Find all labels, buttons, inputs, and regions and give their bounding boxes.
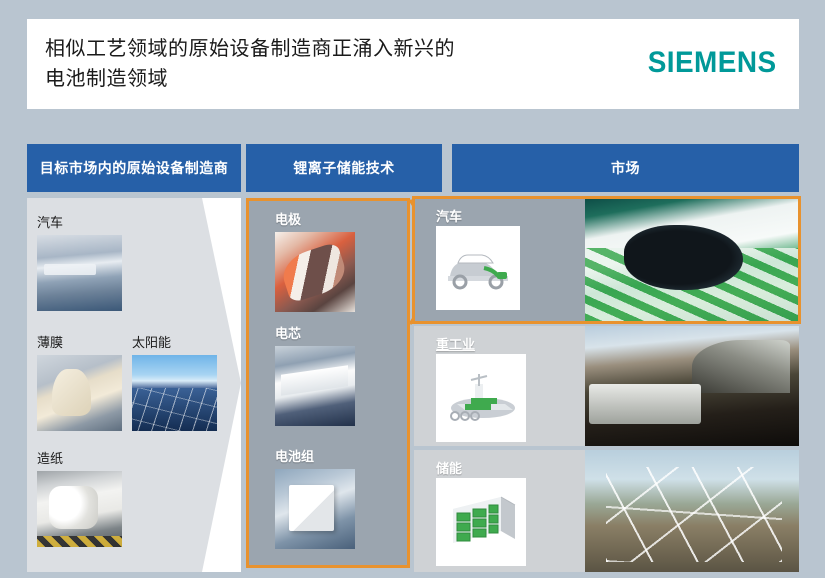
market-pane-automotive: 汽车 [414,198,585,322]
header-label-technology: 锂离子储能技术 [293,158,395,178]
market-item-automotive: 汽车 [414,198,799,322]
header-label-oem: 目标市场内的原始设备制造商 [40,158,229,178]
film-rolls-photo [37,355,122,431]
battery-rack-icon [436,478,526,566]
tech-label-cell: 电芯 [275,323,355,342]
slide-root: 相似工艺领域的原始设备制造商正涌入新兴的 电池制造领域 SIEMENS 目标市场… [0,0,825,578]
wind-turbines-photo [585,450,799,572]
header-bar-technology: 锂离子储能技术 [246,144,442,192]
oem-item-solar: 太阳能 [132,332,217,431]
tech-item-electrode: 电极 [275,209,355,312]
header-label-market: 市场 [611,158,640,178]
battery-cell-photo [275,346,355,426]
tech-label-pack: 电池组 [275,446,355,465]
tech-label-electrode: 电极 [275,209,355,228]
title-card: 相似工艺领域的原始设备制造商正涌入新兴的 电池制造领域 SIEMENS [27,19,799,109]
oem-label-solar: 太阳能 [132,332,217,351]
oem-label-paper: 造纸 [37,448,122,467]
market-pane-energy-storage: 储能 [414,450,585,572]
siemens-logo: SIEMENS [648,46,777,80]
oem-label-film: 薄膜 [37,332,122,351]
oem-label-automotive: 汽车 [37,212,122,231]
page-title: 相似工艺领域的原始设备制造商正涌入新兴的 电池制造领域 [45,34,455,94]
ev-charging-photo [585,198,799,322]
mining-vehicle-icon [436,354,526,442]
solar-panels-photo [132,355,217,431]
electric-car-icon [436,226,520,310]
market-label-heavy-industry: 重工业 [436,334,475,353]
market-label-automotive: 汽车 [436,206,462,225]
market-label-energy-storage: 储能 [436,458,462,477]
oem-column: 汽车 薄膜 太阳能 造纸 [27,198,241,572]
oem-item-automotive: 汽车 [37,212,122,311]
tech-item-cell: 电芯 [275,323,355,426]
oem-item-film: 薄膜 [37,332,122,431]
market-item-heavy-industry: 重工业 [414,326,799,446]
paper-roll-photo [37,471,122,547]
electrode-foil-photo [275,232,355,312]
tech-item-pack: 电池组 [275,446,355,549]
market-pane-heavy-industry: 重工业 [414,326,585,446]
automotive-production-line-photo [37,235,122,311]
market-column: 汽车 重工业 [414,198,799,572]
battery-pack-photo [275,469,355,549]
header-bar-oem: 目标市场内的原始设备制造商 [27,144,241,192]
oem-item-paper: 造纸 [37,448,122,547]
market-item-energy-storage: 储能 [414,450,799,572]
technology-column: 电极 电芯 电池组 [246,198,410,568]
mining-excavator-photo [585,326,799,446]
header-bar-market: 市场 [452,144,799,192]
